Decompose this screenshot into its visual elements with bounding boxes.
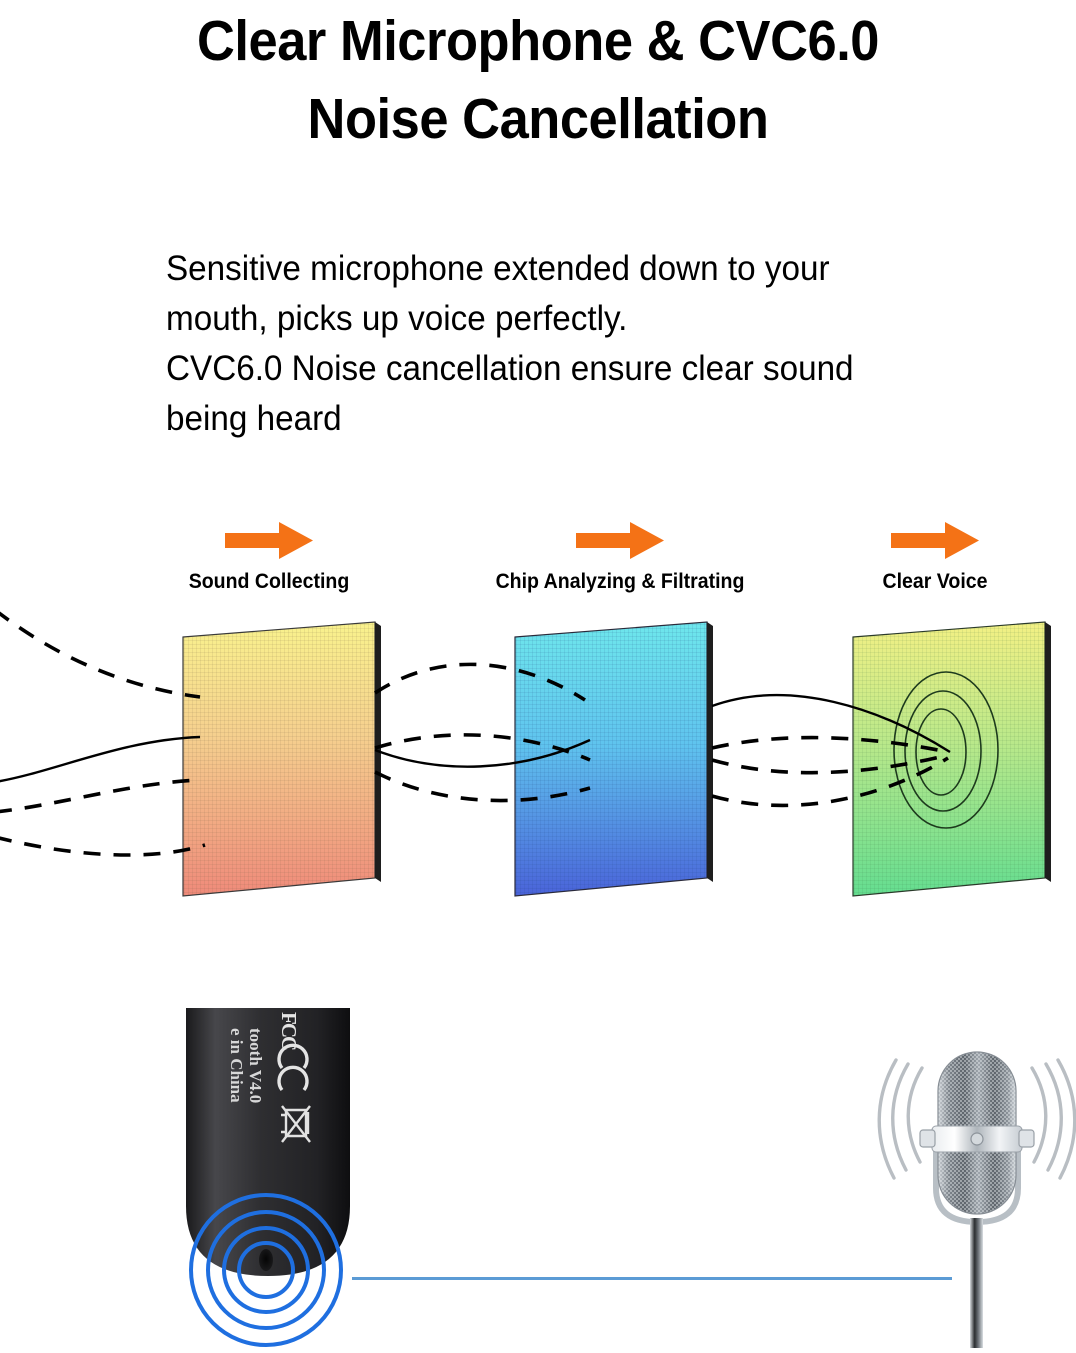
title-line-1: Clear Microphone & CVC6.0 [43,2,1033,80]
sound-arc-left [879,1060,922,1178]
process-step-sound-collecting: Sound Collecting [104,520,434,594]
step-label: Clear Voice [800,570,1070,594]
mic-port [259,1249,273,1271]
process-step-clear-voice: Clear Voice [790,520,1076,594]
process-step-chip-analyzing: Chip Analyzing & Filtrating [455,520,785,594]
title-line-2: Noise Cancellation [43,80,1033,158]
sound-waves [0,610,950,855]
sound-collecting-panel [183,622,381,896]
arrow-right-icon [889,520,981,562]
description-block: Sensitive microphone extended down to yo… [166,244,983,444]
description-line-2: mouth, picks up voice perfectly. [166,294,983,344]
sound-arc-right [1032,1060,1075,1178]
connector-line [352,1277,952,1280]
chip-analyzing-panel [515,622,713,896]
mic-stand [970,1218,983,1348]
mic-band [932,1126,1022,1152]
clear-voice-panel [853,622,1051,896]
studio-microphone [876,1040,1076,1353]
device-origin-label: e in China [227,1028,246,1103]
arrow-right-icon [223,520,315,562]
description-line-1: Sensitive microphone extended down to yo… [166,244,983,294]
device-bluetooth-label: tooth V4.0 [246,1028,265,1103]
page-title: Clear Microphone & CVC6.0 Noise Cancella… [43,0,1033,158]
step-label: Chip Analyzing & Filtrating [467,570,774,594]
arrow-right-icon [574,520,666,562]
step-label: Sound Collecting [116,570,423,594]
description-line-4: being heard [166,394,983,444]
signal-flow-diagram [0,600,1076,930]
description-line-3: CVC6.0 Noise cancellation ensure clear s… [166,344,983,394]
device-body [186,1008,350,1276]
bluetooth-receiver: tooth V4.0 e in China FCC [168,1008,388,1353]
